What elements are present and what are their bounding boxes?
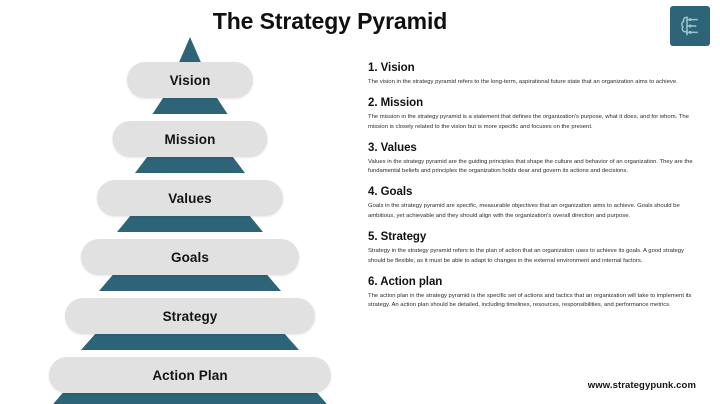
section-heading-action-plan: 6. Action plan	[368, 276, 693, 288]
section-body-values: Values in the strategy pyramid are the g…	[368, 158, 693, 177]
slide-canvas: The Strategy Pyramid	[0, 0, 720, 404]
section-vision: 1. Vision The vision in the strategy pyr…	[368, 62, 693, 88]
strategy-pyramid-diagram: Vision Mission Values Goals	[14, 34, 366, 390]
pyramid-pill-mission[interactable]: Mission	[113, 121, 268, 157]
pyramid-label-action-plan: Action Plan	[152, 368, 227, 383]
pyramid-pill-strategy[interactable]: Strategy	[65, 298, 315, 334]
section-goals: 4. Goals Goals in the strategy pyramid a…	[368, 186, 693, 221]
pyramid-pill-goals[interactable]: Goals	[81, 239, 299, 275]
section-body-vision: The vision in the strategy pyramid refer…	[368, 78, 693, 88]
pyramid-label-values: Values	[168, 191, 211, 206]
section-list: 1. Vision The vision in the strategy pyr…	[368, 62, 693, 320]
section-heading-mission: 2. Mission	[368, 97, 693, 109]
section-heading-strategy: 5. Strategy	[368, 231, 693, 243]
pyramid-label-vision: Vision	[170, 73, 211, 88]
footer-website-url[interactable]: www.strategypunk.com	[588, 380, 696, 391]
section-strategy: 5. Strategy Strategy in the strategy pyr…	[368, 231, 693, 266]
section-body-mission: The mission in the strategy pyramid is a…	[368, 113, 693, 132]
pyramid-slab-action-plan	[47, 393, 333, 404]
pyramid-slab-vision	[153, 98, 228, 114]
section-heading-goals: 4. Goals	[368, 186, 693, 198]
pyramid-label-mission: Mission	[165, 132, 216, 147]
section-body-strategy: Strategy in the strategy pyramid refers …	[368, 247, 693, 266]
section-mission: 2. Mission The mission in the strategy p…	[368, 97, 693, 132]
pyramid-slab-values	[117, 216, 263, 232]
pyramid-slab-strategy	[81, 334, 299, 350]
section-action-plan: 6. Action plan The action plan in the st…	[368, 276, 693, 311]
pyramid-pill-action-plan[interactable]: Action Plan	[49, 357, 331, 393]
section-heading-vision: 1. Vision	[368, 62, 693, 74]
section-heading-values: 3. Values	[368, 142, 693, 154]
pyramid-slab-goals	[99, 275, 281, 291]
page-title: The Strategy Pyramid	[0, 8, 660, 35]
pyramid-label-goals: Goals	[171, 250, 209, 265]
pyramid-slab-mission	[135, 157, 245, 173]
pyramid-pill-values[interactable]: Values	[97, 180, 283, 216]
section-body-action-plan: The action plan in the strategy pyramid …	[368, 292, 693, 311]
pyramid-pill-vision[interactable]: Vision	[127, 62, 253, 98]
strategypunk-brain-logo-icon	[670, 6, 710, 46]
section-values: 3. Values Values in the strategy pyramid…	[368, 142, 693, 177]
section-body-goals: Goals in the strategy pyramid are specif…	[368, 202, 693, 221]
pyramid-label-strategy: Strategy	[163, 309, 218, 324]
